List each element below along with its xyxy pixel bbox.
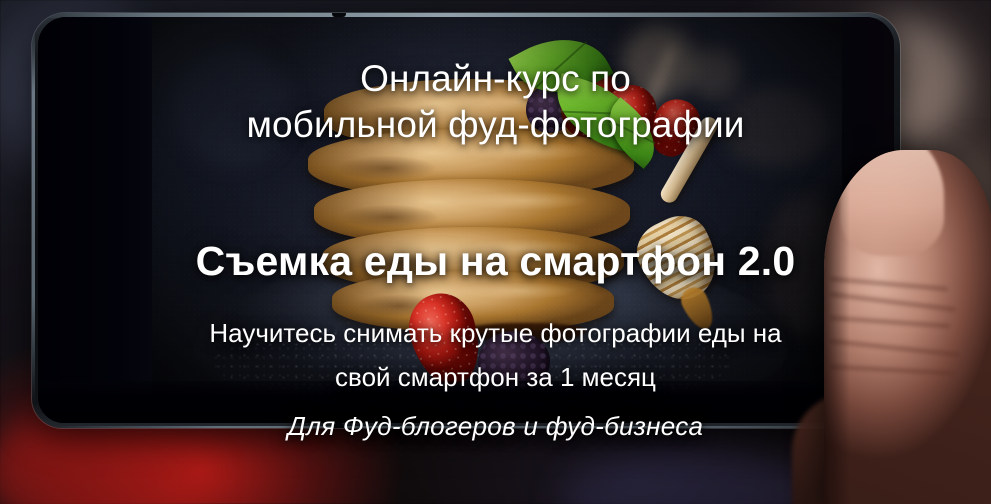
course-eyebrow-line-1: Онлайн-курс по <box>0 58 991 99</box>
promo-banner: Онлайн-курс по мобильной фуд-фотографии … <box>0 0 991 504</box>
course-subline-1: Научитесь снимать крутые фотографии еды … <box>0 318 991 349</box>
course-eyebrow-line-2: мобильной фуд-фотографии <box>0 104 991 145</box>
course-subline-2: свой смартфон за 1 месяц <box>0 362 991 393</box>
course-audience-tagline: Для Фуд-блогеров и фуд-бизнеса <box>0 411 991 442</box>
course-headline: Съемка еды на смартфон 2.0 <box>0 238 991 285</box>
promo-text-overlay: Онлайн-курс по мобильной фуд-фотографии … <box>0 0 991 504</box>
